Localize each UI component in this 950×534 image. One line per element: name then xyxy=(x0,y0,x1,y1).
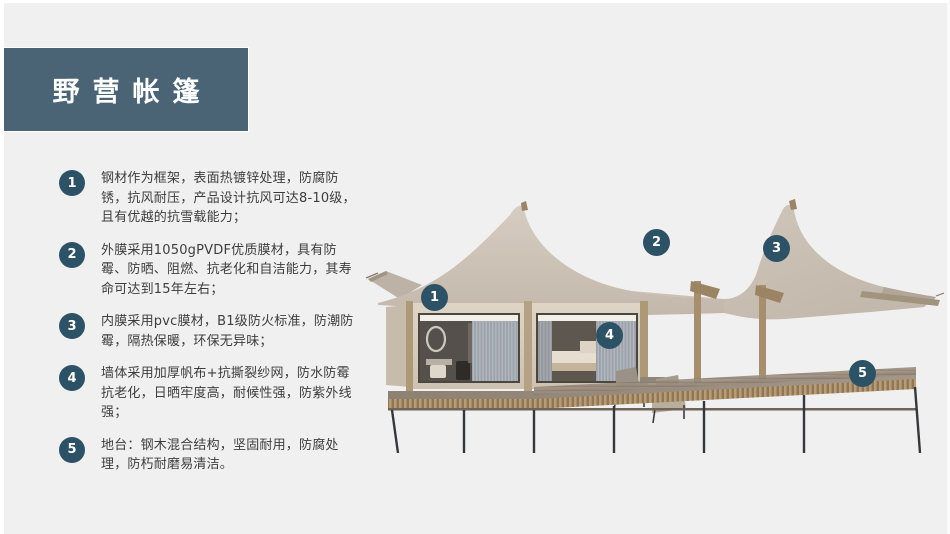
feature-badge-4: 4 xyxy=(59,365,85,391)
callout-badge-4: 4 xyxy=(596,322,623,349)
slide-canvas: 野营帐篷 1 钢材作为框架，表面热镀锌处理，防腐防锈，抗风耐压，产品设计抗风可达… xyxy=(0,0,950,534)
tent-illustration xyxy=(364,163,944,453)
feature-text-3: 内膜采用pvc膜材，B1级防火标准，防潮防霉，隔热保暖，环保无异味； xyxy=(101,312,359,351)
feature-text-4: 墙体采用加厚帆布+抗撕裂纱网，防水防霉抗老化，日晒牢度高，耐候性强，防紫外线强； xyxy=(101,364,359,423)
title-banner: 野营帐篷 xyxy=(4,48,248,131)
feature-list: 1 钢材作为框架，表面热镀锌处理，防腐防锈，抗风耐压，产品设计抗风可达8-10级… xyxy=(59,169,374,475)
feature-text-5: 地台：钢木混合结构，坚固耐用，防腐处理，防朽耐磨易清洁。 xyxy=(101,436,359,475)
callout-badge-5: 5 xyxy=(849,360,876,387)
callout-badge-3: 3 xyxy=(763,235,790,262)
feature-badge-2: 2 xyxy=(59,242,85,268)
list-item: 5 地台：钢木混合结构，坚固耐用，防腐处理，防朽耐磨易清洁。 xyxy=(59,436,374,475)
feature-badge-1: 1 xyxy=(59,170,85,196)
list-item: 4 墙体采用加厚帆布+抗撕裂纱网，防水防霉抗老化，日晒牢度高，耐候性强，防紫外线… xyxy=(59,364,374,423)
page-title: 野营帐篷 xyxy=(40,70,213,109)
callout-badge-1: 1 xyxy=(421,284,448,311)
list-item: 1 钢材作为框架，表面热镀锌处理，防腐防锈，抗风耐压，产品设计抗风可达8-10级… xyxy=(59,169,374,228)
tent-graphic xyxy=(364,163,944,453)
list-item: 2 外膜采用1050gPVDF优质膜材，具有防霉、防晒、阻燃、抗老化和自洁能力，… xyxy=(59,241,374,300)
list-item: 3 内膜采用pvc膜材，B1级防火标准，防潮防霉，隔热保暖，环保无异味； xyxy=(59,312,374,351)
callout-badge-2: 2 xyxy=(643,229,670,256)
feature-text-2: 外膜采用1050gPVDF优质膜材，具有防霉、防晒、阻燃、抗老化和自洁能力，其寿… xyxy=(101,241,359,300)
feature-text-1: 钢材作为框架，表面热镀锌处理，防腐防锈，抗风耐压，产品设计抗风可达8-10级，且… xyxy=(101,169,359,228)
canopy-peak-pole-left xyxy=(521,201,528,211)
feature-badge-3: 3 xyxy=(59,313,85,339)
feature-badge-5: 5 xyxy=(59,437,85,463)
window-bathroom xyxy=(418,313,520,383)
